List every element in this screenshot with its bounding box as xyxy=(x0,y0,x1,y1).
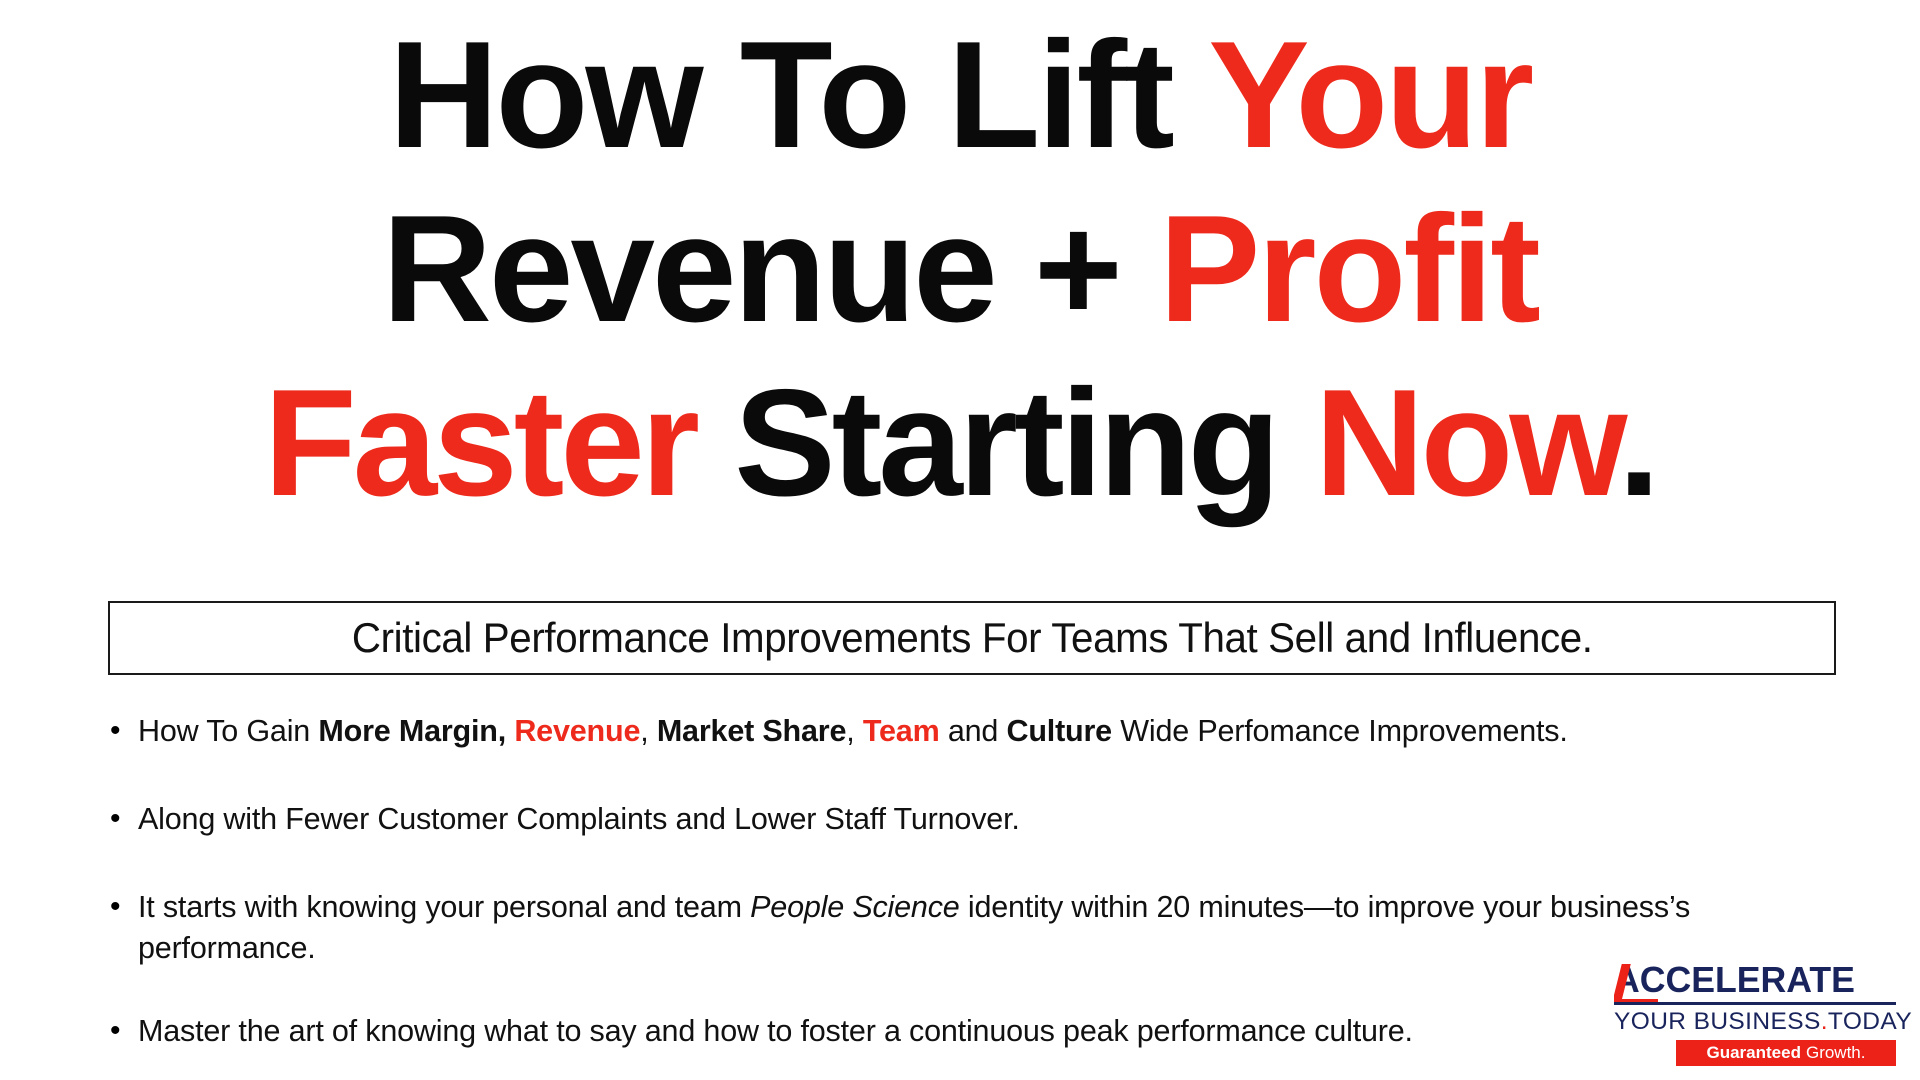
logo-guarantee-light: Growth. xyxy=(1806,1043,1866,1062)
headline-line-1-red: Your xyxy=(1208,10,1531,180)
logo-tagline: YOUR BUSINESS.TODAY xyxy=(1614,1005,1896,1037)
logo-guarantee-badge: GuaranteedGrowth. xyxy=(1676,1040,1896,1066)
headline-line-1: How To Lift Your xyxy=(0,8,1920,182)
bullet-marker-icon: • xyxy=(104,1010,138,1052)
logo-tagline-part1: YOUR BUSINESS xyxy=(1614,1008,1821,1035)
headline-line-3-red-faster: Faster xyxy=(264,358,696,528)
logo-red-underline xyxy=(1614,999,1658,1002)
list-item-segment: Team xyxy=(863,713,940,748)
list-item-segment: Market Share xyxy=(657,713,846,748)
headline-line-2-black: Revenue + xyxy=(382,184,1159,354)
logo-brand-text: ACCELERATE xyxy=(1614,962,1893,1000)
bullet-marker-icon: • xyxy=(104,710,138,752)
list-item-segment: People Science xyxy=(750,889,959,924)
headline-line-3-period: . xyxy=(1618,358,1656,528)
slide-canvas: How To Lift Your Revenue + Profit Faster… xyxy=(0,0,1920,1080)
list-item-segment: Master the art of knowing what to say an… xyxy=(138,1013,1413,1048)
list-item-segment: and xyxy=(940,713,1007,748)
subtitle-box: Critical Performance Improvements For Te… xyxy=(108,601,1836,675)
bullet-marker-icon: • xyxy=(104,798,138,840)
logo-tagline-dot: . xyxy=(1821,1008,1828,1035)
headline-line-3-black-starting: Starting xyxy=(696,358,1315,528)
list-item: • How To Gain More Margin, Revenue, Mark… xyxy=(104,710,1884,752)
accelerate-logo[interactable]: ACCELERATE YOUR BUSINESS.TODAY Guarantee… xyxy=(1614,962,1896,1066)
bullet-marker-icon: • xyxy=(104,886,138,928)
subtitle-text: Critical Performance Improvements For Te… xyxy=(352,614,1593,662)
logo-guarantee-bold: Guaranteed xyxy=(1706,1043,1800,1062)
list-item: • Along with Fewer Customer Complaints a… xyxy=(104,798,1884,840)
headline-line-2-red: Profit xyxy=(1159,184,1538,354)
page-title: How To Lift Your Revenue + Profit Faster… xyxy=(0,8,1920,530)
logo-brand-row: ACCELERATE xyxy=(1614,962,1896,1005)
list-item-text: How To Gain More Margin, Revenue, Market… xyxy=(138,710,1858,751)
list-item-segment xyxy=(506,713,514,748)
list-item-segment: More Margin, xyxy=(318,713,506,748)
headline-line-3: Faster Starting Now. xyxy=(0,356,1920,530)
list-item-segment: , xyxy=(640,713,657,748)
list-item-text: Along with Fewer Customer Complaints and… xyxy=(138,798,1858,839)
list-item-segment: , xyxy=(846,713,863,748)
headline-line-3-red-now: Now xyxy=(1315,358,1618,528)
list-item-segment: How To Gain xyxy=(138,713,318,748)
list-item-text: It starts with knowing your personal and… xyxy=(138,886,1858,968)
logo-guarantee-text: GuaranteedGrowth. xyxy=(1706,1040,1865,1066)
list-item-segment: Culture xyxy=(1006,713,1112,748)
list-item-segment: It starts with knowing your personal and… xyxy=(138,889,750,924)
list-item-segment: Wide Perfomance Improvements. xyxy=(1112,713,1568,748)
logo-tagline-part2: TODAY xyxy=(1828,1008,1912,1035)
list-item-segment: Revenue xyxy=(514,713,640,748)
headline-line-2: Revenue + Profit xyxy=(0,182,1920,356)
list-item: • It starts with knowing your personal a… xyxy=(104,886,1884,968)
list-item-text: Master the art of knowing what to say an… xyxy=(138,1010,1858,1051)
list-item-segment: Along with Fewer Customer Complaints and… xyxy=(138,801,1020,836)
headline-line-1-black: How To Lift xyxy=(389,10,1209,180)
